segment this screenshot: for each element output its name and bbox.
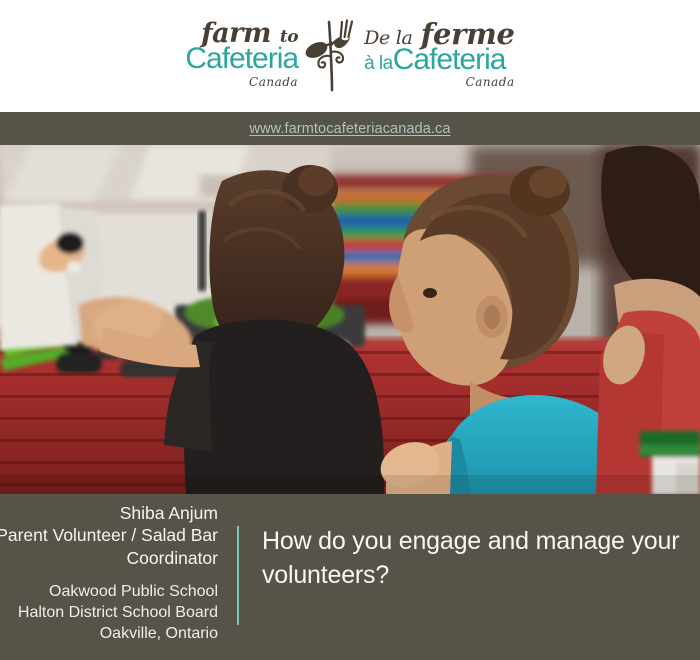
presentation-slide: farm to Cafeteria Canada [0,0,700,660]
speaker-info: Shiba Anjum Parent Volunteer / Salad Bar… [0,502,218,645]
slide-headline: How do you engage and manage your volunt… [262,525,700,592]
website-url-link[interactable]: www.farmtocafeteriacanada.ca [249,121,450,137]
logo-french: De la ferme à laCafeteria Canada [364,20,515,89]
speaker-location: Oakville, Ontario [0,624,218,645]
logo-right-canada: Canada [364,76,515,88]
farm-to-cafeteria-canada-logo: farm to Cafeteria Canada [185,16,514,92]
speaker-board: Halton District School Board [0,603,218,624]
logo-band: farm to Cafeteria Canada [0,0,700,112]
logo-right-cafeteria: Cafeteria [393,43,506,76]
speaker-name: Shiba Anjum [0,502,218,524]
logo-english: farm to Cafeteria Canada [185,20,298,88]
speaker-school: Oakwood Public School [0,582,218,603]
logo-right-line2: à laCafeteria [364,45,515,76]
logo-left-cafeteria: Cafeteria [185,44,298,75]
footer-band: Shiba Anjum Parent Volunteer / Salad Bar… [0,494,700,660]
speaker-role: Parent Volunteer / Salad Bar Coordinator [0,524,218,569]
website-url-bar: www.farmtocafeteriacanada.ca [0,112,700,145]
speaker-spacer [0,569,218,582]
salad-bar-photo [0,145,700,494]
salad-bar-photo-graphic [0,145,700,494]
logo-right-ala: à la [364,53,393,74]
vertical-divider [237,526,239,625]
logo-left-canada: Canada [185,76,298,88]
sprout-fork-spoon-icon [302,16,360,92]
